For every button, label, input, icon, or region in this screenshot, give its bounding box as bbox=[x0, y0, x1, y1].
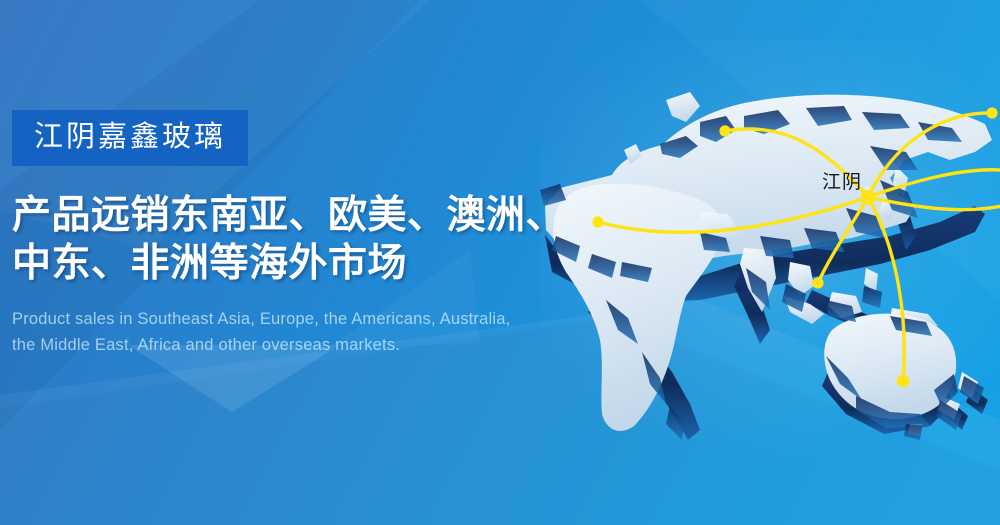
jiangyin-hub-node bbox=[861, 190, 876, 205]
promo-banner: 江阴 江阴嘉鑫玻璃 产品远销东南亚、欧美、澳洲、 中东、非洲等海外市场 Prod… bbox=[0, 0, 1000, 525]
headline-line-1: 产品远销东南亚、欧美、澳洲、 bbox=[12, 192, 572, 240]
subhead-line-2: the Middle East, Africa and other overse… bbox=[12, 333, 572, 359]
subhead-line-1: Product sales in Southeast Asia, Europe,… bbox=[12, 307, 572, 333]
landmass-africa bbox=[553, 184, 723, 431]
north-america-node bbox=[986, 107, 997, 118]
west-africa-node bbox=[592, 216, 603, 227]
brand-badge: 江阴嘉鑫玻璃 bbox=[12, 110, 248, 166]
hub-city-label: 江阴 bbox=[822, 167, 862, 194]
copy-block: 江阴嘉鑫玻璃 产品远销东南亚、欧美、澳洲、 中东、非洲等海外市场 Product… bbox=[12, 110, 572, 358]
page-subtitle: Product sales in Southeast Asia, Europe,… bbox=[12, 307, 572, 358]
landmass-scandinavia bbox=[666, 92, 700, 122]
southeast-asia-node bbox=[812, 277, 823, 288]
headline-line-2: 中东、非洲等海外市场 bbox=[12, 240, 572, 288]
europe-node bbox=[719, 125, 730, 136]
page-title: 产品远销东南亚、欧美、澳洲、 中东、非洲等海外市场 bbox=[12, 192, 572, 287]
australia-node bbox=[897, 375, 909, 387]
